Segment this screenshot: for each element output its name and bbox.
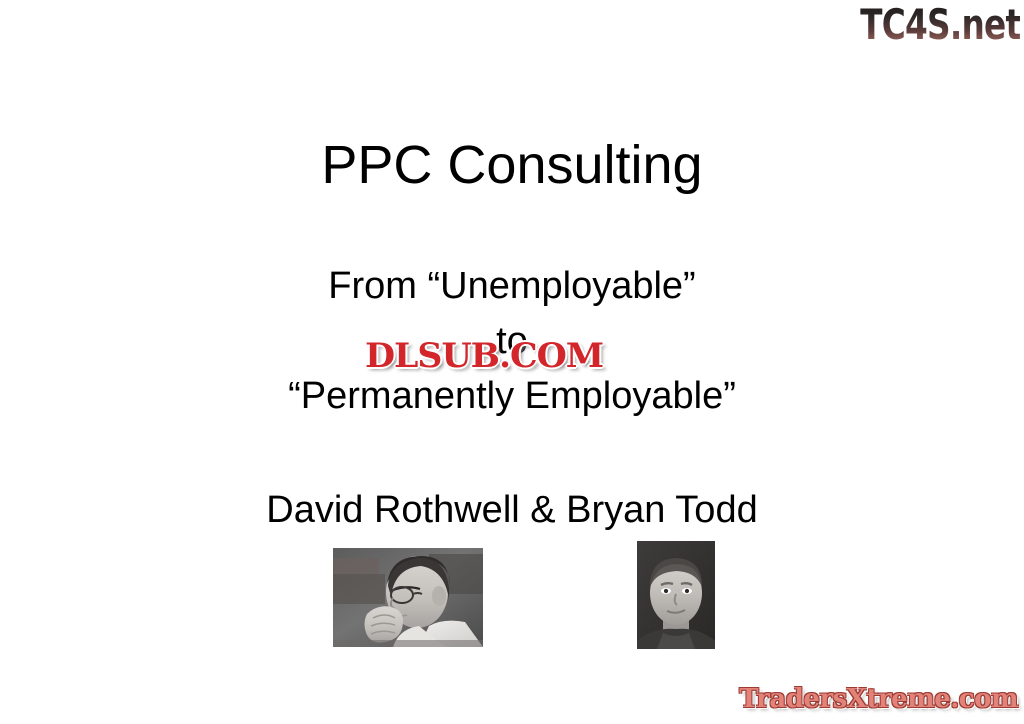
photo-david-rothwell bbox=[333, 548, 483, 647]
presentation-slide: TC4S.net PPC Consulting From “Unemployab… bbox=[0, 0, 1024, 724]
photo-bryan-todd-image bbox=[637, 541, 715, 649]
watermark-tradersxtreme: TradersXtreme.com bbox=[739, 684, 1018, 714]
watermark-dlsub: DLSUB.COM bbox=[365, 336, 603, 376]
subtitle-line-1: From “Unemployable” bbox=[0, 258, 1024, 314]
presenter-names: David Rothwell & Bryan Todd bbox=[0, 487, 1024, 533]
photo-bryan-todd bbox=[637, 541, 715, 649]
photo-david-rothwell-image bbox=[333, 548, 483, 647]
slide-title: PPC Consulting bbox=[0, 134, 1024, 196]
watermark-tc4s: TC4S.net bbox=[860, 2, 1020, 48]
subtitle-line-3: “Permanently Employable” bbox=[0, 368, 1024, 424]
